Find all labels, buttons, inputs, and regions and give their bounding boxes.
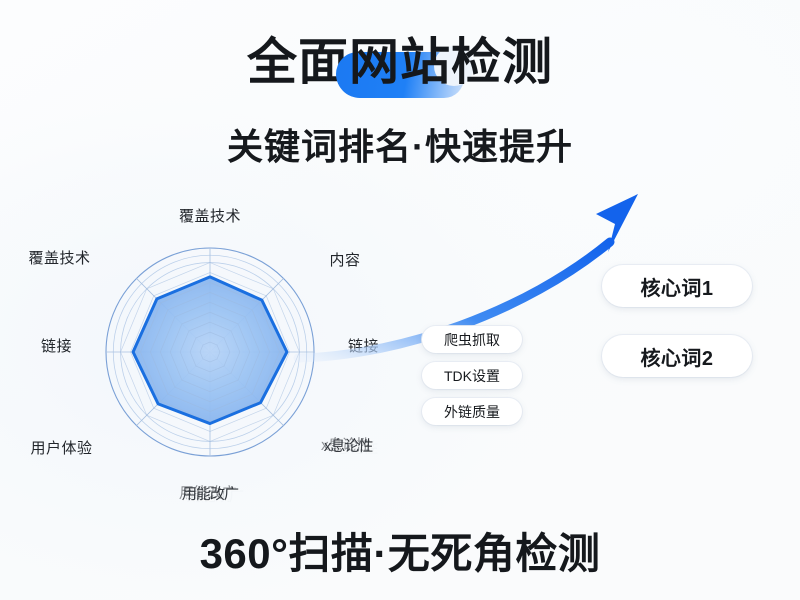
check-chip-tdk[interactable]: TDK设置 <box>422 362 522 389</box>
keyword-pill-1-label: 核心词1 <box>640 272 713 301</box>
radar-axis-label-6: 链接 <box>28 335 72 356</box>
footer-headline: 360°扫描·无死角检测 <box>200 520 601 581</box>
title-block: 全面网站检测 <box>0 34 800 90</box>
check-chip-backlink[interactable]: 外链质量 <box>422 398 522 425</box>
keyword-pill-2[interactable]: 核心词2 <box>602 335 752 377</box>
radar-axis-label-5: 用户体验 <box>28 437 92 458</box>
page-title: 全面网站检测 <box>247 34 553 90</box>
subtitle-block: 关键词排名·快速提升 <box>0 118 800 170</box>
keyword-pill-1[interactable]: 核心词1 <box>602 265 752 307</box>
radar-axis-label-0: 覆盖技术 <box>179 205 241 226</box>
check-chip-backlink-label: 外链质量 <box>444 402 500 422</box>
check-chip-crawl-label: 爬虫抓取 <box>444 330 500 350</box>
keyword-pill-2-label: 核心词2 <box>640 342 713 371</box>
page-subtitle: 关键词排名·快速提升 <box>227 118 573 170</box>
poster-canvas: 全面网站检测 关键词排名·快速提升 覆盖技术 内容 链接 x息论性 用能改广 用… <box>0 0 800 600</box>
title-suffix: 检测 <box>451 34 553 90</box>
radar-axis-label-4: 用能改广 <box>182 483 239 504</box>
footer-block: 360°扫描·无死角检测 <box>0 520 800 581</box>
radar-axis-label-3: x息论性 <box>323 434 372 455</box>
title-prefix: 全面 <box>247 34 349 90</box>
title-highlight-text: 网站 <box>349 34 451 90</box>
title-highlight-word: 网站 <box>349 34 451 90</box>
check-chip-crawl[interactable]: 爬虫抓取 <box>422 326 522 353</box>
check-chip-tdk-label: TDK设置 <box>444 366 500 386</box>
radar-axis-label-7: 覆盖技术 <box>28 247 90 268</box>
